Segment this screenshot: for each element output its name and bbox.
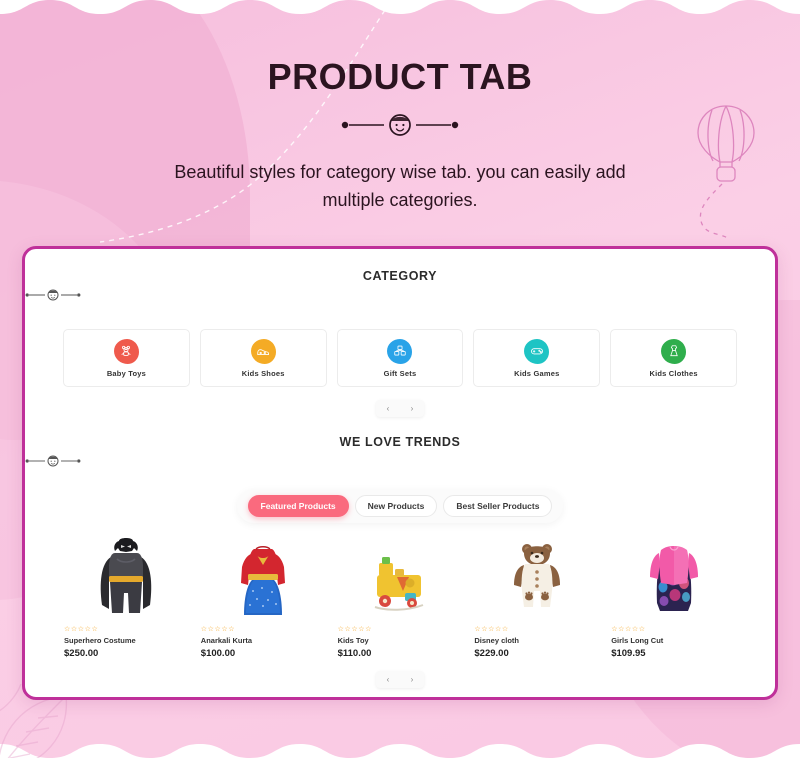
gift-blocks-icon [387,339,412,364]
product-card[interactable]: ☆☆☆☆☆ Disney cloth $229.00 [468,531,605,659]
product-prev-button[interactable]: ‹ [376,671,400,688]
rating-stars: ☆☆☆☆☆ [474,625,599,633]
floral-dress-image [611,531,736,619]
product-name: Disney cloth [474,636,599,645]
category-card-list: Baby Toys Kids Shoes [25,329,775,387]
product-next-button[interactable]: › [400,671,424,688]
scallop-bottom-edge [0,718,800,758]
product-price: $229.00 [474,648,599,659]
tab-featured-products[interactable]: Featured Products [248,495,349,517]
product-card[interactable]: ☆☆☆☆☆ Superhero Costume $250.00 [58,531,195,659]
product-price: $100.00 [201,648,326,659]
category-prev-button[interactable]: ‹ [376,400,400,417]
wonder-woman-dress-image [201,531,326,619]
child-face-ornament-icon [25,454,81,468]
child-face-ornament-icon [25,288,81,302]
category-label: Gift Sets [384,369,417,378]
product-card[interactable]: ☆☆☆☆☆ Kids Toy $110.00 [332,531,469,659]
category-card-kids-shoes[interactable]: Kids Shoes [200,329,327,387]
bear-onesie-image [474,531,599,619]
teddy-bear-icon [114,339,139,364]
category-next-button[interactable]: › [400,400,424,417]
rating-stars: ☆☆☆☆☆ [338,625,463,633]
category-label: Kids Clothes [649,369,697,378]
wooden-train-toy-image [338,531,463,619]
category-label: Baby Toys [107,369,146,378]
product-name: Girls Long Cut [611,636,736,645]
product-name: Superhero Costume [64,636,189,645]
page-title: PRODUCT TAB [0,56,800,98]
dress-icon [661,339,686,364]
product-price: $110.00 [338,648,463,659]
product-price: $250.00 [64,648,189,659]
product-tab-card: CATEGORY [22,246,778,700]
product-name: Kids Toy [338,636,463,645]
rating-stars: ☆☆☆☆☆ [64,625,189,633]
page-root: PRODUCT TAB Beautiful styles for categor… [0,0,800,758]
product-list: ☆☆☆☆☆ Superhero Costume $250.00 [25,531,775,659]
product-price: $109.95 [611,648,736,659]
rating-stars: ☆☆☆☆☆ [611,625,736,633]
hero-header: PRODUCT TAB Beautiful styles for categor… [0,56,800,215]
product-card[interactable]: ☆☆☆☆☆ Girls Long Cut $109.95 [605,531,742,659]
category-card-gift-sets[interactable]: Gift Sets [337,329,464,387]
game-controller-icon [524,339,549,364]
category-card-kids-games[interactable]: Kids Games [473,329,600,387]
page-subtitle: Beautiful styles for category wise tab. … [165,159,635,215]
category-card-kids-clothes[interactable]: Kids Clothes [610,329,737,387]
batman-costume-image [64,531,189,619]
category-section-title: CATEGORY [25,269,775,283]
rating-stars: ☆☆☆☆☆ [201,625,326,633]
category-carousel-nav: ‹ › [376,400,424,417]
category-card-baby-toys[interactable]: Baby Toys [63,329,190,387]
category-label: Kids Games [514,369,559,378]
product-tabs: Featured Products New Products Best Sell… [237,489,563,523]
tab-new-products[interactable]: New Products [355,495,438,517]
tab-best-seller-products[interactable]: Best Seller Products [443,495,552,517]
child-face-ornament-icon [340,112,460,138]
product-card[interactable]: ☆☆☆☆☆ Anarkali Kurta $100.00 [195,531,332,659]
product-name: Anarkali Kurta [201,636,326,645]
category-label: Kids Shoes [242,369,285,378]
scallop-top-edge [0,0,800,40]
shoe-icon [251,339,276,364]
product-carousel-nav: ‹ › [376,671,424,688]
trends-section-title: WE LOVE TRENDS [25,435,775,449]
